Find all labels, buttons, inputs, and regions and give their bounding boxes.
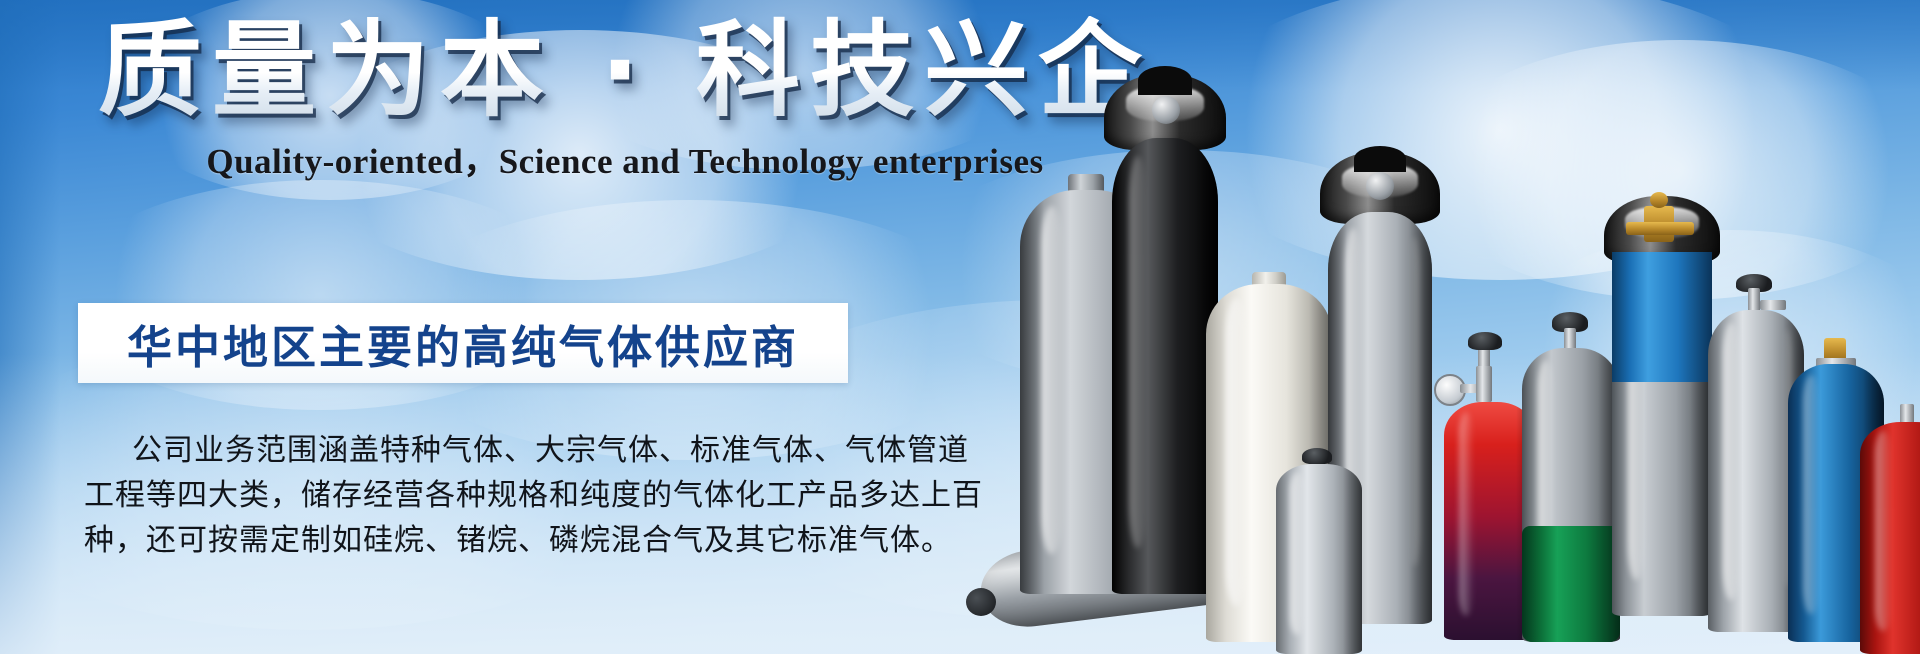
- body-line: 种，还可按需定制如硅烷、锗烷、磷烷混合气及其它标准气体。: [84, 518, 874, 563]
- gas-cylinder-group: [960, 0, 1920, 654]
- red-cylinder: [1860, 408, 1920, 654]
- body-line: 公司业务范围涵盖特种气体、大宗气体、标准气体、气体管道: [84, 428, 874, 473]
- promotional-banner: 质量为本 · 科技兴企 Quality-oriented，Science and…: [0, 0, 1920, 654]
- subtitle-english: Quality-oriented，Science and Technology …: [206, 133, 1043, 184]
- callout-box: 华中地区主要的高纯气体供应商: [78, 303, 848, 383]
- callout-text: 华中地区主要的高纯气体供应商: [127, 311, 799, 376]
- body-line: 工程等四大类，储存经营各种规格和纯度的气体化工产品多达上百: [84, 473, 874, 518]
- body-paragraph: 公司业务范围涵盖特种气体、大宗气体、标准气体、气体管道 工程等四大类，储存经营各…: [84, 428, 874, 563]
- aluminium-cylinder-small: [1276, 454, 1362, 654]
